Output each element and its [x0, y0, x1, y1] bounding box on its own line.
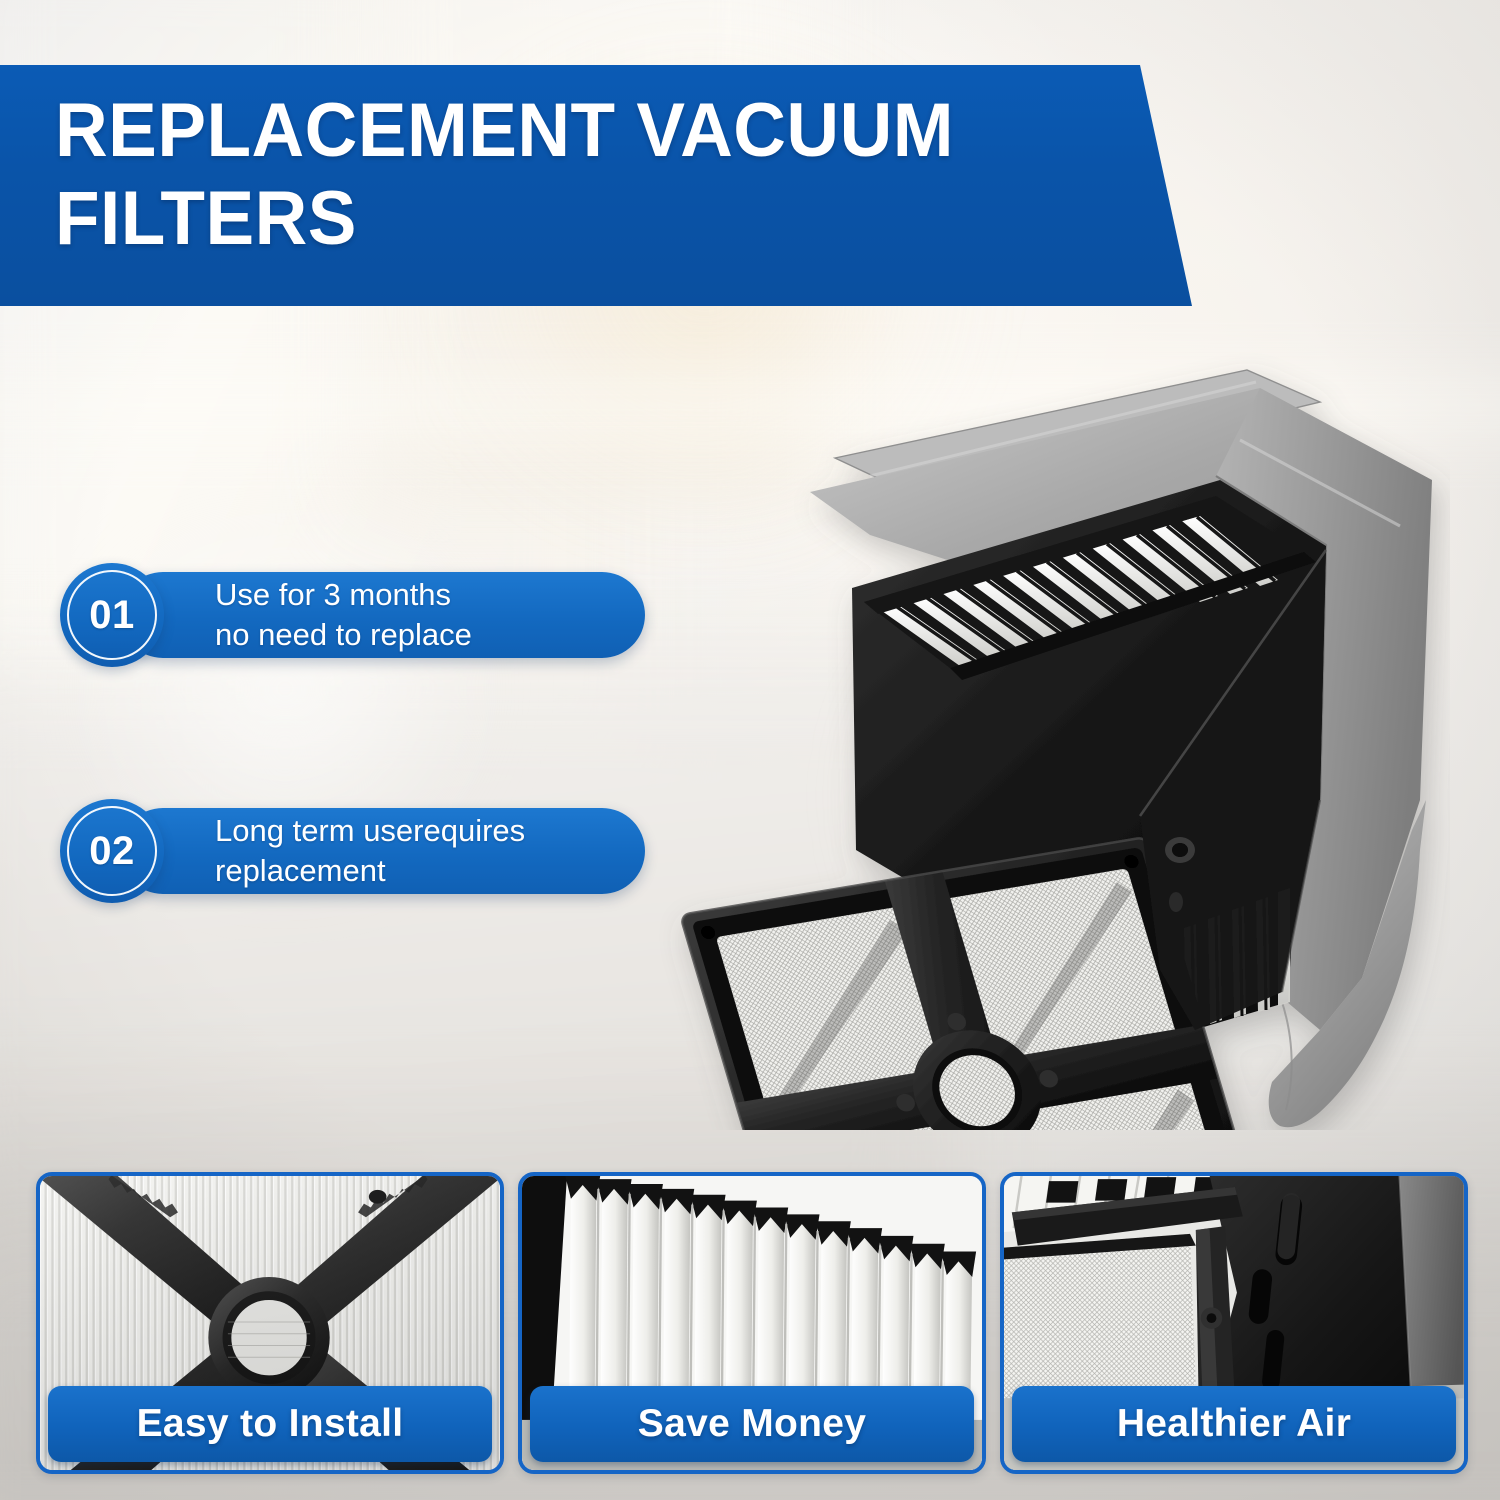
benefit-tile-easy-to-install: Easy to Install: [36, 1172, 504, 1474]
feature-2-text: Long term userequires replacement: [215, 811, 525, 890]
feature-1-number: 01: [89, 593, 135, 638]
tile-3-caption: Healthier Air: [1012, 1386, 1456, 1462]
feature-pill-2: Long term userequires replacement: [120, 808, 645, 894]
tile-1-caption: Easy to Install: [48, 1386, 492, 1462]
feature-2-number-badge: 02: [60, 799, 164, 903]
header-banner: REPLACEMENT VACUUM FILTERS: [0, 65, 1195, 306]
feature-1-number-badge: 01: [60, 563, 164, 667]
benefit-tile-healthier-air: Healthier Air: [1000, 1172, 1468, 1474]
hero-product-image: [620, 330, 1450, 1130]
tile-1-caption-label: Easy to Install: [137, 1402, 404, 1446]
feature-2-number: 02: [89, 829, 135, 874]
benefit-tiles: Easy to Install: [36, 1172, 1468, 1474]
feature-1-text: Use for 3 months no need to replace: [215, 575, 472, 654]
tile-3-caption-label: Healthier Air: [1117, 1402, 1351, 1446]
tile-2-caption: Save Money: [530, 1386, 974, 1462]
tile-2-caption-label: Save Money: [638, 1402, 866, 1446]
feature-pill-1: Use for 3 months no need to replace: [120, 572, 645, 658]
benefit-tile-save-money: Save Money: [518, 1172, 986, 1474]
page-title: REPLACEMENT VACUUM FILTERS: [55, 87, 1063, 263]
